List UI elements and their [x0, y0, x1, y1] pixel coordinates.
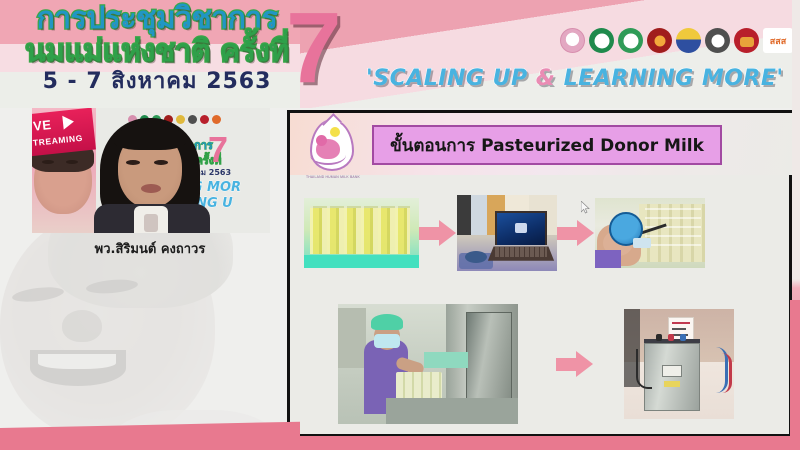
thaihealth-logo: สสส — [763, 28, 793, 53]
ministry-public-health-logo — [589, 28, 614, 53]
sponsor-logo-row: สสส — [560, 28, 793, 53]
laptop-data-entry-photo — [457, 195, 557, 271]
drop-logo-caption: THAILAND HUMAN MILK BANK — [304, 175, 362, 179]
milk-bottles-rack-photo — [304, 198, 419, 268]
presenter-figure — [92, 118, 210, 233]
backdrop-edition-number: 7 — [208, 132, 228, 168]
conference-title-line2: นมแม่แห่งชาติ ครั้งที่ — [22, 37, 292, 67]
nursing-council-logo — [676, 28, 701, 53]
broadcast-screen: การประชุมวิชาการ นมแม่แห่งชาติ ครั้งที่ … — [0, 0, 800, 450]
conference-title: การประชุมวิชาการ นมแม่แห่งชาติ ครั้งที่ … — [22, 4, 292, 93]
bottom-pink-bar — [0, 436, 800, 450]
red-emblem-logo — [734, 28, 759, 53]
conference-date: 5 - 7 สิงหาคม 2563 — [22, 71, 292, 93]
conference-header-banner: การประชุมวิชาการ นมแม่แห่งชาติ ครั้งที่ … — [0, 0, 800, 108]
tagline-prefix: 'SCALING UP — [366, 66, 536, 91]
flow-arrow-2 — [557, 220, 595, 246]
conference-title-line1: การประชุมวิชาการ — [22, 4, 292, 34]
right-pink-block — [790, 300, 800, 450]
thai-breastfeeding-foundation-logo — [560, 28, 585, 53]
temperature-probe-photo — [595, 198, 705, 268]
edition-number: 7 — [286, 0, 342, 98]
streaming-label: TREAMING — [32, 133, 83, 148]
flow-arrow-3 — [556, 351, 594, 377]
flow-arrow-1 — [419, 220, 457, 246]
tagline-ampersand: & — [536, 66, 556, 91]
presentation-slide[interactable]: THAILAND HUMAN MILK BANK ขั้นตอนการ Past… — [287, 110, 792, 437]
conference-tagline: 'SCALING UP & LEARNING MORE' — [366, 66, 796, 91]
live-label: VE — [32, 117, 52, 134]
pasteurizer-machine-photo — [624, 309, 734, 419]
presenter-video-feed[interactable]: การประชุมวิชาการ นมแม่แห่งชาติ ครั้งที่ … — [32, 108, 270, 233]
tagline-suffix: LEARNING MORE' — [555, 66, 783, 91]
national-health-logo — [705, 28, 730, 53]
human-milk-bank-drop-icon: THAILAND HUMAN MILK BANK — [302, 117, 362, 179]
process-flow-row-2 — [338, 303, 758, 425]
slide-title-banner: ขั้นตอนการ Pasteurized Donor Milk — [372, 125, 722, 165]
play-icon — [62, 115, 74, 130]
nurse-loading-pasteurizer-photo — [338, 304, 518, 424]
department-health-logo — [618, 28, 643, 53]
process-flow-row-1 — [304, 197, 782, 269]
mouse-pointer — [581, 201, 589, 213]
slide-title-text: ขั้นตอนการ Pasteurized Donor Milk — [390, 132, 704, 159]
presenter-name-caption: พว.สิริมนต์ คงถาวร — [30, 238, 270, 259]
royal-college-logo — [647, 28, 672, 53]
